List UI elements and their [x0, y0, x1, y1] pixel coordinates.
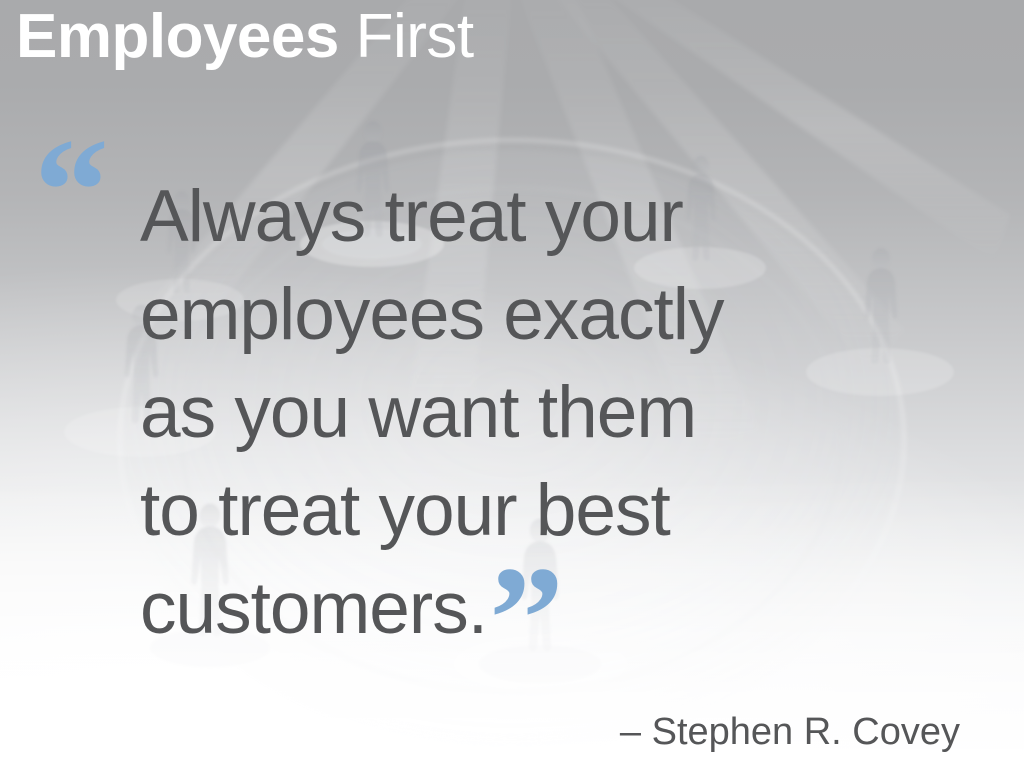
quote-line: as you want them [140, 364, 900, 462]
opening-quote-mark: “ [34, 116, 105, 266]
quote-line: Always treat your [140, 168, 900, 266]
page-title-strong: Employees [16, 2, 339, 71]
page-title: Employees First [16, 4, 474, 69]
quote-line-last: customers.” [140, 560, 900, 658]
quote-attribution: – Stephen R. Covey [620, 712, 960, 754]
slide-canvas: Employees First “ Always treat your empl… [0, 0, 1024, 768]
quote-line: employees exactly [140, 266, 900, 364]
quote-text: Always treat your employees exactly as y… [140, 168, 900, 658]
quote-line-last-text: customers. [140, 568, 487, 649]
closing-quote-mark: ” [489, 536, 560, 702]
page-title-light: First [339, 2, 474, 71]
